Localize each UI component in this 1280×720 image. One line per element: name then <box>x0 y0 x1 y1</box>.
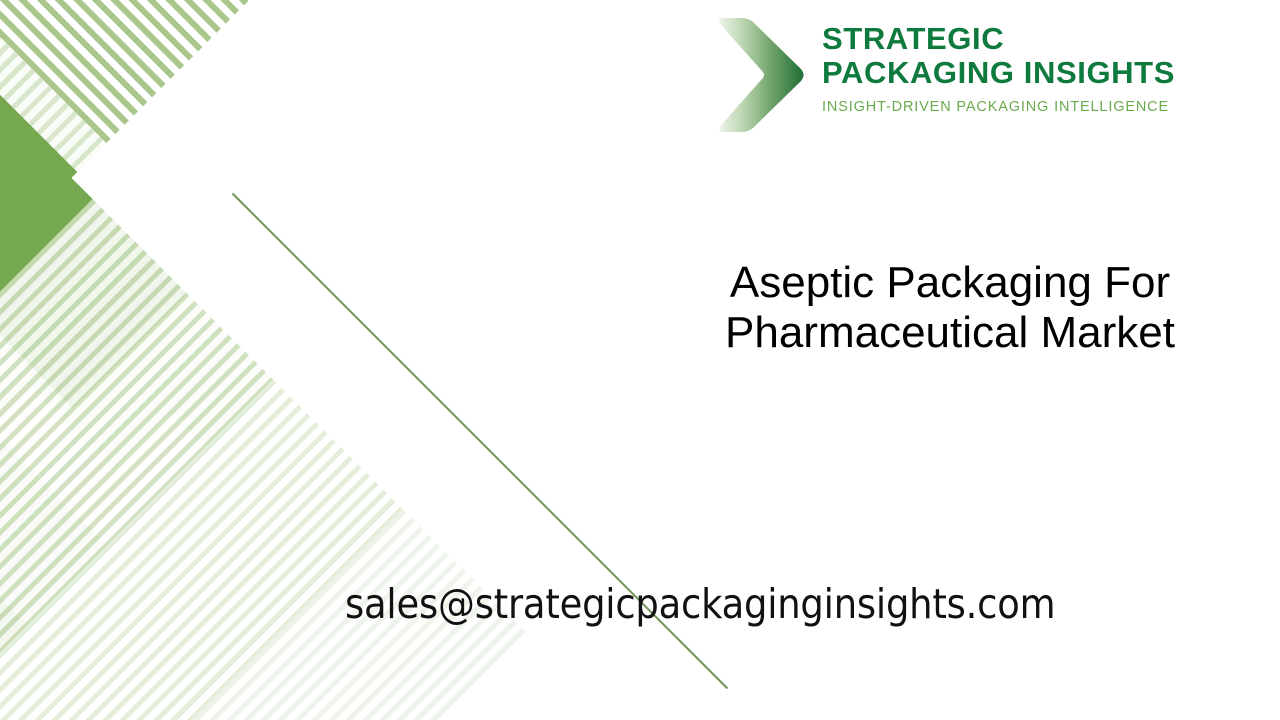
striped-panel-upper-left <box>0 0 379 439</box>
title-slide: STRATEGIC PACKAGING INSIGHTS INSIGHT-DRI… <box>0 0 1280 720</box>
logo-tagline: INSIGHT-DRIVEN PACKAGING INTELLIGENCE <box>822 99 1175 115</box>
pale-wash-slab <box>44 414 737 720</box>
logo-line-1: STRATEGIC <box>822 22 1175 56</box>
contact-email[interactable]: sales@strategicpackaginginsights.com <box>345 578 1055 630</box>
pale-diagonal-slab-b <box>0 0 543 358</box>
white-wedge-bottom <box>184 344 1280 720</box>
striped-panel-mid-left <box>0 339 476 720</box>
pale-diagonal-slab-a <box>0 0 415 645</box>
pale-diagonal-slab-d <box>0 384 634 720</box>
page-title: Aseptic Packaging For Pharmaceutical Mar… <box>620 258 1280 358</box>
green-diagonal-band-lower <box>0 314 353 720</box>
logo-wordmark: STRATEGIC PACKAGING INSIGHTS INSIGHT-DRI… <box>822 14 1175 115</box>
company-logo: STRATEGIC PACKAGING INSIGHTS INSIGHT-DRI… <box>712 14 1175 136</box>
chevron-mark-icon <box>712 14 808 136</box>
logo-line-2: PACKAGING INSIGHTS <box>822 56 1175 90</box>
green-diagonal-slab-b <box>7 0 452 133</box>
pale-diagonal-slab-c <box>0 309 506 720</box>
striped-panel-lower-left <box>0 167 358 720</box>
striped-panel-lower-right <box>86 431 645 720</box>
green-diagonal-slab-a <box>0 0 193 408</box>
